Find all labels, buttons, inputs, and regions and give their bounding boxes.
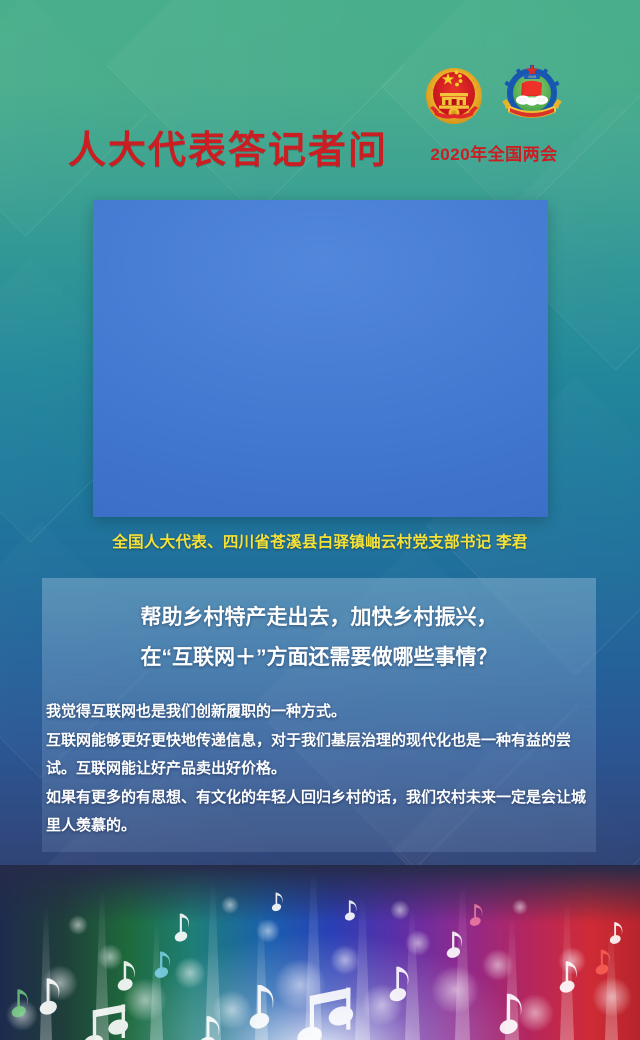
music-notes-decoration	[0, 865, 640, 1040]
year-label: 2020年全国两会	[418, 140, 570, 165]
svg-text:1949: 1949	[528, 75, 536, 79]
cppcc-emblem-icon: 1949	[500, 63, 564, 133]
national-emblem-of-china-icon	[422, 63, 486, 133]
photo-background	[93, 200, 548, 517]
question-line-2: 在“互联网＋”方面还需要做哪些事情？	[42, 638, 596, 678]
answer-paragraph: 我觉得互联网也是我们创新履职的一种方式。	[42, 698, 602, 727]
emblem-group: 1949	[418, 58, 568, 138]
poster-header: 人大代表答记者问	[0, 0, 640, 200]
speaker-photo	[93, 200, 548, 517]
answer-text: 我觉得互联网也是我们创新履职的一种方式。 互联网能够更好更快地传递信息，对于我们…	[42, 698, 602, 841]
answer-paragraph: 如果有更多的有思想、有文化的年轻人回归乡村的话，我们农村未来一定是会让城里人羡慕…	[42, 784, 602, 841]
photo-caption: 全国人大代表、四川省苍溪县白驿镇岫云村党支部书记 李君	[0, 530, 640, 552]
answer-paragraph: 互联网能够更好更快地传递信息，对于我们基层治理的现代化也是一种有益的尝试。互联网…	[42, 727, 602, 784]
poster-root: 人大代表答记者问	[0, 0, 640, 1040]
question-text: 帮助乡村特产走出去，加快乡村振兴， 在“互联网＋”方面还需要做哪些事情？	[42, 598, 596, 678]
question-line-1: 帮助乡村特产走出去，加快乡村振兴，	[42, 598, 596, 638]
page-title: 人大代表答记者问	[68, 119, 388, 174]
music-notes-band	[0, 865, 640, 1040]
